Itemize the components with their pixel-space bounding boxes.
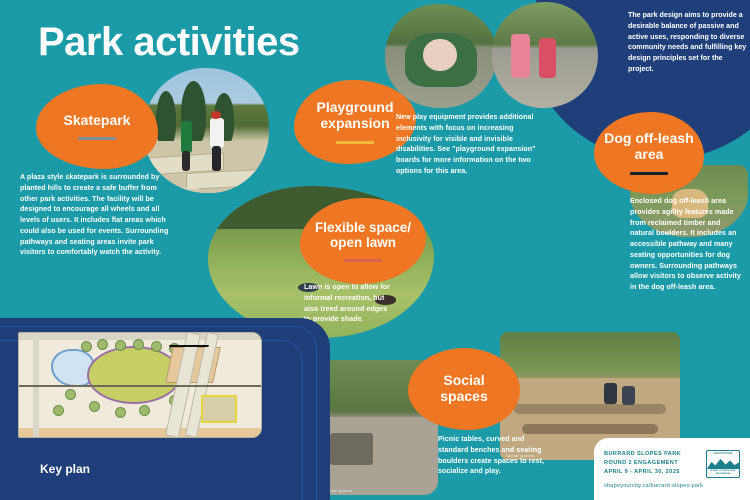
- footer-info-card: BURRARD SLOPES PARK ROUND 2 ENGAGEMENT A…: [594, 438, 750, 500]
- map-boundary: [19, 385, 261, 387]
- playground-description: New play equipment provides additional e…: [396, 112, 544, 177]
- map-tree: [115, 407, 126, 418]
- map-tree: [97, 339, 108, 350]
- skatepark-description: A plaza style skatepark is surrounded by…: [20, 172, 170, 258]
- footer-project-name: BURRARD SLOPES PARK: [604, 450, 700, 459]
- photo-caption: Playground: [498, 101, 594, 106]
- map-tree: [139, 405, 150, 416]
- badge-rule: [344, 259, 382, 262]
- badge-rule: [336, 141, 374, 144]
- playground-photo: Playground: [385, 4, 497, 108]
- curved-bench: [514, 404, 665, 414]
- picnic-table: [330, 433, 373, 465]
- badge-dog-offleash[interactable]: Dog off-leash area: [594, 112, 704, 194]
- logo-mountain-icon: [707, 456, 739, 469]
- logo-bottom-text: BOARD OF PARKS AND RECREATION: [707, 470, 739, 475]
- badge-skatepark-label: Skatepark: [54, 113, 141, 129]
- skater-figure: [210, 118, 224, 148]
- park-visitor: [622, 386, 635, 405]
- badge-rule: [78, 137, 116, 140]
- map-tree: [89, 401, 100, 412]
- badge-dog-label: Dog off-leash area: [594, 131, 704, 162]
- poster-canvas: The park design aims to provide a desira…: [0, 0, 750, 500]
- map-tree: [133, 339, 144, 350]
- keyplan-map[interactable]: [18, 332, 262, 438]
- photo-caption: Social spaces: [324, 488, 434, 493]
- child-figure: [511, 34, 530, 79]
- badge-skatepark[interactable]: Skatepark: [36, 84, 158, 169]
- skater-legs: [212, 146, 221, 171]
- footer-dates: APRIL 9 - APRIL 30, 2025: [604, 468, 700, 477]
- tree-shape: [156, 91, 176, 149]
- badge-social-label: Social spaces: [408, 373, 520, 404]
- intro-paragraph: The park design aims to provide a desira…: [628, 10, 748, 75]
- child-figure: [539, 38, 556, 78]
- map-tree: [151, 341, 162, 352]
- map-tree: [81, 341, 92, 352]
- curved-bench: [522, 424, 659, 434]
- skater-legs: [182, 151, 190, 171]
- map-road: [19, 428, 261, 437]
- playground-kids-photo: Playground: [492, 2, 598, 108]
- keyplan-label: Key plan: [40, 462, 90, 476]
- social-spaces-description: Picnic tables, curved and standard bench…: [438, 434, 552, 477]
- map-dog-offleash-zone: [201, 395, 237, 423]
- park-visitor: [604, 383, 617, 403]
- badge-rule: [630, 172, 668, 175]
- map-tree: [65, 389, 76, 400]
- dog-offleash-description: Enclosed dog off-leash area provides agi…: [630, 196, 746, 293]
- badge-flexible-label: Flexible space/ open lawn: [300, 220, 426, 250]
- skater-figure: [181, 121, 192, 154]
- logo-top-text: VANCOUVER: [713, 452, 732, 455]
- page-title: Park activities: [38, 22, 300, 62]
- footer-url[interactable]: shapeyourcity.ca/burrard-slopes-park: [604, 483, 740, 489]
- vancouver-parks-logo-icon: VANCOUVER BOARD OF PARKS AND RECREATION: [706, 450, 740, 478]
- footer-round-name: ROUND 2 ENGAGEMENT: [604, 459, 700, 468]
- map-tree: [53, 405, 64, 416]
- map-tree: [115, 340, 126, 351]
- badge-social-spaces[interactable]: Social spaces: [408, 348, 520, 430]
- child-figure: [423, 39, 457, 70]
